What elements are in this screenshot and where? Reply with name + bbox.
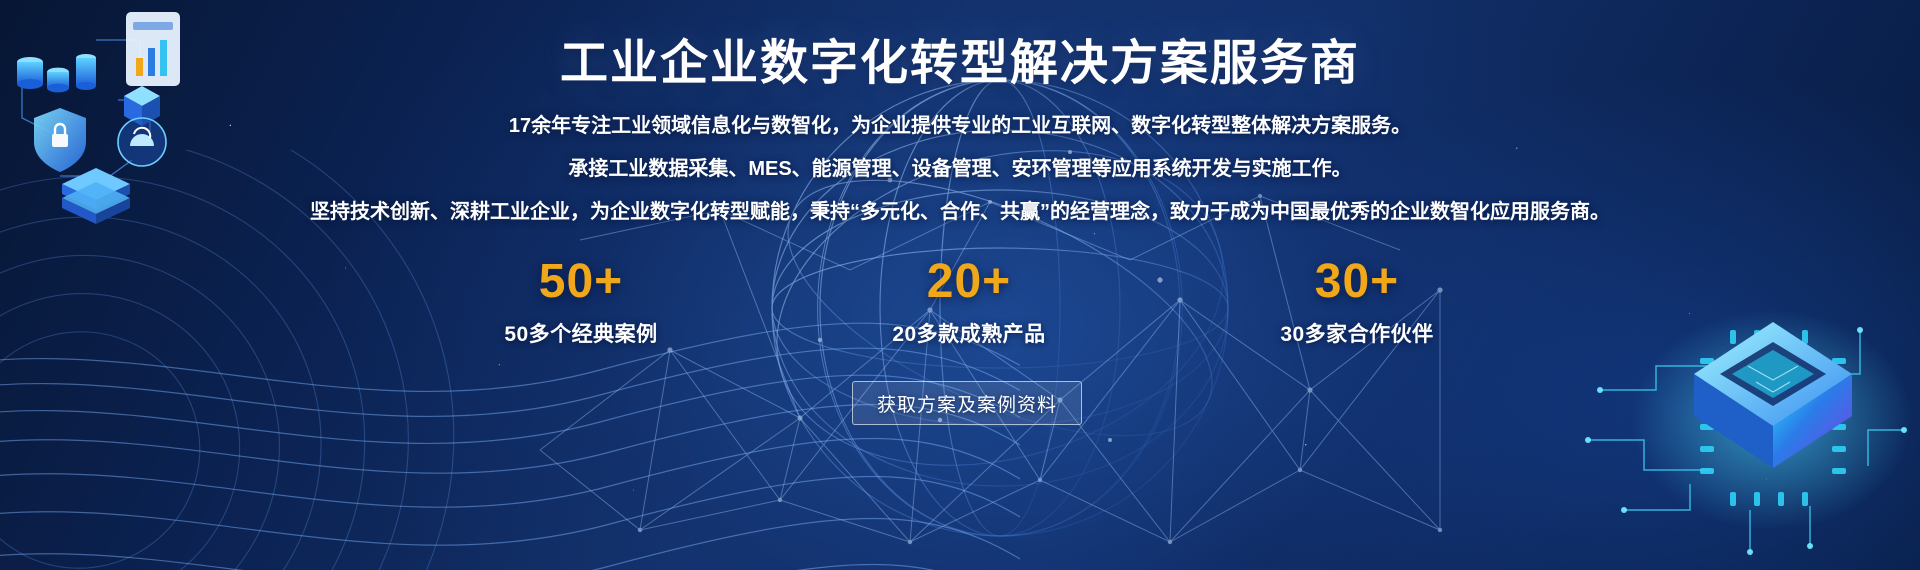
stat-number: 20+	[859, 258, 1079, 306]
stat-item-partners: 30+ 30多家合作伙伴	[1247, 258, 1467, 348]
hero-banner: 工业企业数字化转型解决方案服务商 17余年专注工业领域信息化与数智化，为企业提供…	[0, 0, 1920, 570]
banner-content: 工业企业数字化转型解决方案服务商 17余年专注工业领域信息化与数智化，为企业提供…	[0, 0, 1920, 570]
subtitle-line-3: 坚持技术创新、深耕工业企业，为企业数字化转型赋能，秉持“多元化、合作、共赢”的经…	[0, 202, 1920, 222]
stat-label: 20多款成熟产品	[859, 318, 1079, 348]
stat-number: 30+	[1247, 258, 1467, 306]
get-solution-button[interactable]: 获取方案及案例资料	[852, 381, 1082, 425]
subtitle-group: 17余年专注工业领域信息化与数智化，为企业提供专业的工业互联网、数字化转型整体解…	[0, 116, 1920, 222]
stat-item-cases: 50+ 50多个经典案例	[471, 258, 691, 348]
stat-label: 30多家合作伙伴	[1247, 318, 1467, 348]
stat-label: 50多个经典案例	[471, 318, 691, 348]
stat-item-products: 20+ 20多款成熟产品	[859, 258, 1079, 348]
subtitle-line-1: 17余年专注工业领域信息化与数智化，为企业提供专业的工业互联网、数字化转型整体解…	[0, 116, 1920, 136]
stats-row: 50+ 50多个经典案例 20+ 20多款成熟产品 30+ 30多家合作伙伴	[0, 258, 1920, 348]
cta-container: 获取方案及案例资料	[0, 381, 1920, 425]
page-title: 工业企业数字化转型解决方案服务商	[0, 36, 1920, 91]
stat-number: 50+	[471, 258, 691, 306]
subtitle-line-2: 承接工业数据采集、MES、能源管理、设备管理、安环管理等应用系统开发与实施工作。	[0, 159, 1920, 179]
